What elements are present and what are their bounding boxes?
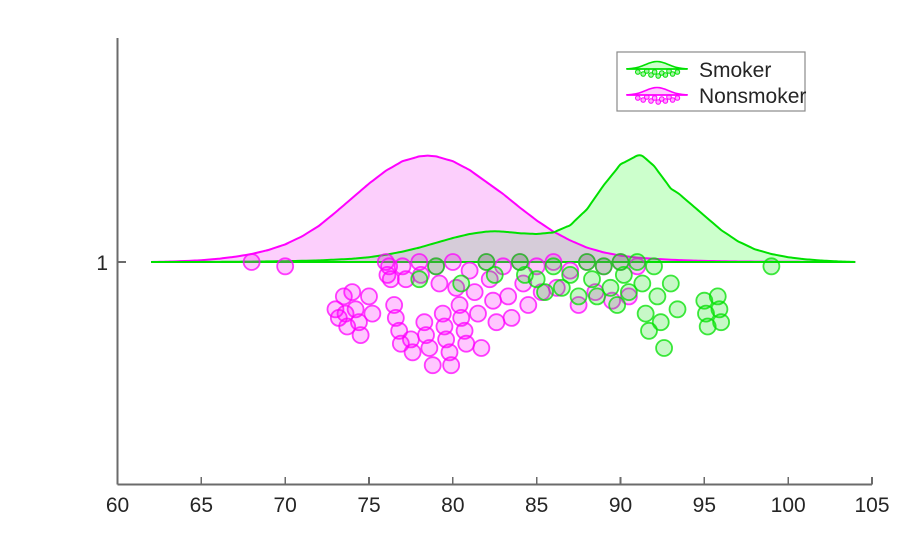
scatter-point-nonsmoker <box>500 288 516 304</box>
scatter-point-nonsmoker <box>488 314 504 330</box>
scatter-point-smoker <box>411 271 427 287</box>
figure-canvas: 60657075808590951001051 SmokerNonsmoker <box>0 0 907 546</box>
x-tick-label: 95 <box>693 494 716 517</box>
x-tick-label: 75 <box>357 494 380 517</box>
scatter-point-smoker <box>453 276 469 292</box>
x-tick-label: 85 <box>525 494 548 517</box>
scatter-point-smoker <box>649 288 665 304</box>
x-tick-label: 70 <box>273 494 296 517</box>
legend-scatter-icon <box>652 96 657 101</box>
scatter-point-nonsmoker <box>244 254 260 270</box>
x-tick-label: 105 <box>854 494 889 517</box>
scatter-point-smoker <box>713 314 729 330</box>
scatter-point-smoker <box>656 340 672 356</box>
legend[interactable]: SmokerNonsmoker <box>617 52 806 111</box>
legend-label: Smoker <box>699 59 771 82</box>
legend-scatter-icon <box>636 96 641 101</box>
legend-scatter-icon <box>645 69 650 74</box>
chart-plot: 60657075808590951001051 SmokerNonsmoker <box>0 0 907 546</box>
scatter-point-nonsmoker <box>353 327 369 343</box>
scatter-point-nonsmoker <box>425 357 441 373</box>
scatter-point-smoker <box>584 271 600 287</box>
scatter-point-nonsmoker <box>405 344 421 360</box>
scatter-point-nonsmoker <box>470 306 486 322</box>
legend-scatter-icon <box>636 70 641 75</box>
scatter-point-nonsmoker <box>344 284 360 300</box>
scatter-point-smoker <box>571 288 587 304</box>
legend-scatter-icon <box>670 72 675 77</box>
scatter-point-nonsmoker <box>431 276 447 292</box>
scatter-point-nonsmoker <box>520 297 536 313</box>
legend-scatter-icon <box>670 98 675 103</box>
scatter-point-smoker <box>670 301 686 317</box>
x-tick-label: 65 <box>190 494 213 517</box>
scatter-point-smoker <box>638 306 654 322</box>
legend-scatter-icon <box>663 73 668 78</box>
scatter-point-smoker <box>609 297 625 313</box>
scatter-point-nonsmoker <box>443 357 459 373</box>
x-tick-label: 90 <box>609 494 632 517</box>
x-tick-label: 60 <box>106 494 129 517</box>
scatter-point-smoker <box>646 258 662 274</box>
scatter-point-nonsmoker <box>445 254 461 270</box>
scatter-point-smoker <box>579 254 595 270</box>
scatter-point-smoker <box>616 267 632 283</box>
legend-scatter-icon <box>663 99 668 104</box>
scatter-point-smoker <box>602 280 618 296</box>
scatter-point-smoker <box>653 314 669 330</box>
legend-scatter-icon <box>675 96 680 101</box>
x-tick-label: 80 <box>441 494 464 517</box>
legend-scatter-icon <box>675 70 680 75</box>
scatter-point-smoker <box>537 284 553 300</box>
scatter-point-nonsmoker <box>504 310 520 326</box>
scatter-point-nonsmoker <box>277 258 293 274</box>
scatter-point-nonsmoker <box>485 293 501 309</box>
scatter-point-smoker <box>663 276 679 292</box>
scatter-point-nonsmoker <box>473 340 489 356</box>
scatter-point-smoker <box>763 258 779 274</box>
legend-scatter-icon <box>652 70 657 75</box>
scatter-point-nonsmoker <box>383 271 399 287</box>
scatter-points-group <box>244 254 780 373</box>
scatter-point-nonsmoker <box>421 340 437 356</box>
scatter-point-smoker <box>562 267 578 283</box>
ticks-group: 60657075808590951001051 <box>96 252 889 517</box>
scatter-point-smoker <box>545 258 561 274</box>
scatter-point-smoker <box>629 254 645 270</box>
x-tick-label: 100 <box>771 494 806 517</box>
scatter-point-smoker <box>596 258 612 274</box>
y-tick-label: 1 <box>96 252 108 275</box>
scatter-point-nonsmoker <box>458 336 474 352</box>
legend-label: Nonsmoker <box>699 85 806 108</box>
scatter-point-nonsmoker <box>364 306 380 322</box>
legend-scatter-icon <box>645 95 650 100</box>
density-curves-group <box>151 155 855 262</box>
scatter-point-smoker <box>634 276 650 292</box>
scatter-point-smoker <box>428 258 444 274</box>
scatter-point-smoker <box>487 267 503 283</box>
scatter-point-nonsmoker <box>361 288 377 304</box>
